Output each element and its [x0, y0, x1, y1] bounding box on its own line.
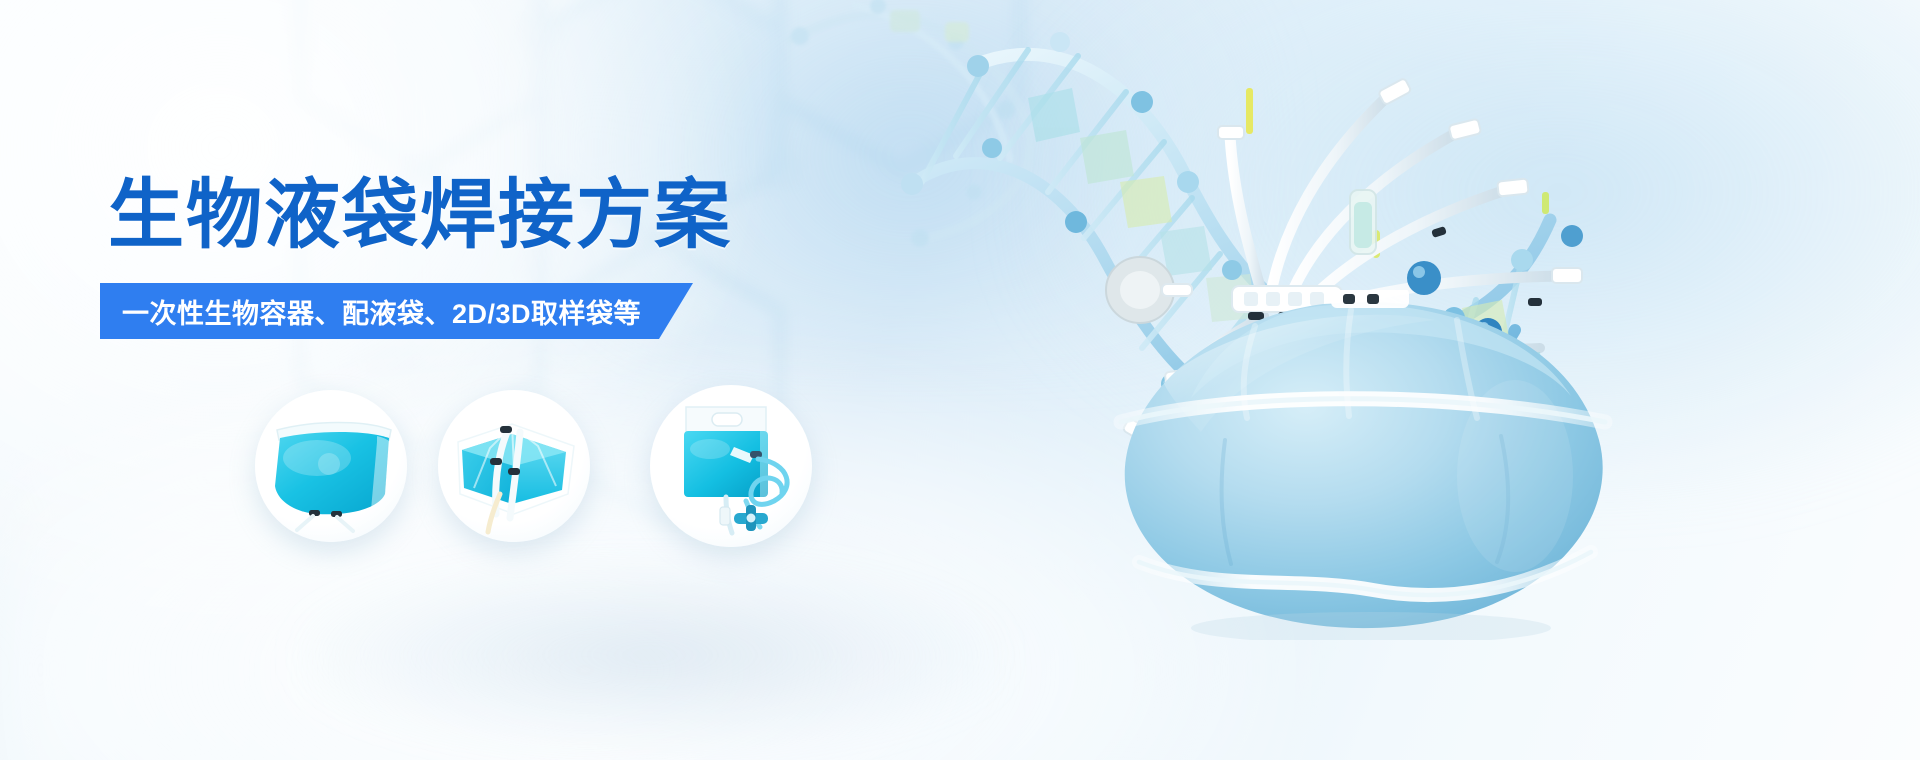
product-circle-2[interactable]: [438, 390, 590, 542]
sampling-bag-icon: [650, 385, 812, 547]
hero-banner: 生物液袋焊接方案 一次性生物容器、配液袋、2D/3D取样袋等: [0, 0, 1920, 760]
2d-liquid-bag-icon: [255, 390, 407, 542]
3d-cube-bag-icon: [438, 390, 590, 542]
3d-bioprocess-bag-icon: [1105, 290, 1625, 640]
product-circles-shadow: [300, 560, 1000, 750]
subtitle-text: 一次性生物容器、配液袋、2D/3D取样袋等: [100, 283, 659, 339]
product-circle-3[interactable]: [650, 385, 812, 547]
subtitle-banner: 一次性生物容器、配液袋、2D/3D取样袋等: [100, 283, 693, 339]
product-circle-1[interactable]: [255, 390, 407, 542]
banner-arrow-icon: [659, 283, 693, 339]
page-title: 生物液袋焊接方案: [108, 178, 732, 254]
